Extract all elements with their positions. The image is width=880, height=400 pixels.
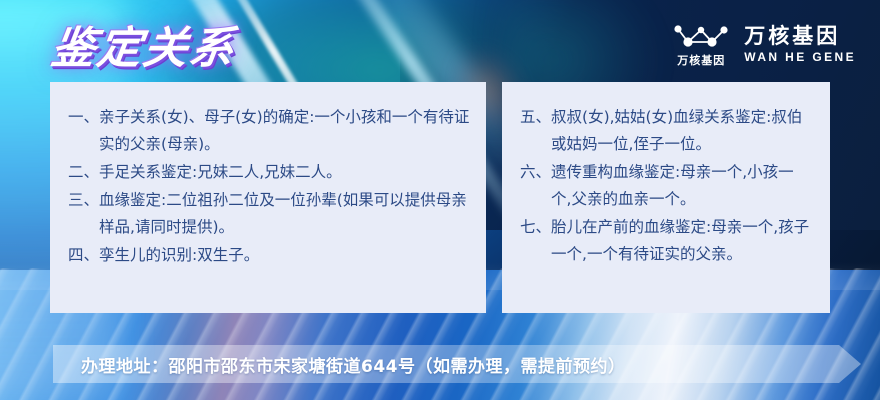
brand-mark: 万核基因 [672,22,730,66]
address-banner: 办理地址：邵阳市邵东市宋家塘街道644号（如需办理，需提前预约） [53,345,861,383]
list-item-number: 六、 [520,159,551,186]
molecule-icon [672,22,730,52]
brand-logo: 万核基因 万核基因 WAN HE GENE [672,22,856,66]
list-item: 五、 叔叔(女),姑姑(女)血绿关系鉴定:叔伯或姑妈一位,侄子一位。 [520,104,814,158]
list-item-number: 三、 [68,187,99,214]
list-item: 四、 孪生儿的识别:双生子。 [68,242,470,269]
list-item-number: 二、 [68,159,99,186]
list-item: 二、 手足关系鉴定:兄妹二人,兄妹二人。 [68,159,470,186]
list-item-text: 手足关系鉴定:兄妹二人,兄妹二人。 [99,159,470,186]
list-item: 一、 亲子关系(女)、母子(女)的确定:一个小孩和一个有待证实的父亲(母亲)。 [68,104,470,158]
service-card-left: 一、 亲子关系(女)、母子(女)的确定:一个小孩和一个有待证实的父亲(母亲)。 … [50,82,486,313]
list-item: 七、 胎儿在产前的血缘鉴定:母亲一个,孩子一个,一个有待证实的父亲。 [520,214,814,268]
list-item-text: 孪生儿的识别:双生子。 [99,242,470,269]
list-item-text: 叔叔(女),姑姑(女)血绿关系鉴定:叔伯或姑妈一位,侄子一位。 [551,104,814,158]
poster-root: 鉴定关系 [0,0,880,400]
list-item-text: 胎儿在产前的血缘鉴定:母亲一个,孩子一个,一个有待证实的父亲。 [551,214,814,268]
list-item-number: 一、 [68,104,99,131]
address-text: 办理地址：邵阳市邵东市宋家塘街道644号（如需办理，需提前预约） [81,352,626,377]
list-item: 六、 遗传重构血缘鉴定:母亲一个,小孩一个,父亲的血亲一个。 [520,159,814,213]
list-item-text: 遗传重构血缘鉴定:母亲一个,小孩一个,父亲的血亲一个。 [551,159,814,213]
list-item-number: 四、 [68,242,99,269]
list-item-number: 七、 [520,214,551,241]
brand-name-cn: 万核基因 [744,25,856,47]
brand-name-en: WAN HE GENE [744,51,856,63]
list-item-text: 血缘鉴定:二位祖孙二位及一位孙辈(如果可以提供母亲样品,请同时提供)。 [99,187,470,241]
list-item: 三、 血缘鉴定:二位祖孙二位及一位孙辈(如果可以提供母亲样品,请同时提供)。 [68,187,470,241]
brand-mark-label: 万核基因 [677,55,725,66]
brand-name-block: 万核基因 WAN HE GENE [744,25,856,62]
page-title: 鉴定关系 [48,12,241,76]
list-item-text: 亲子关系(女)、母子(女)的确定:一个小孩和一个有待证实的父亲(母亲)。 [99,104,470,158]
service-card-right: 五、 叔叔(女),姑姑(女)血绿关系鉴定:叔伯或姑妈一位,侄子一位。 六、 遗传… [502,82,830,313]
list-item-number: 五、 [520,104,551,131]
